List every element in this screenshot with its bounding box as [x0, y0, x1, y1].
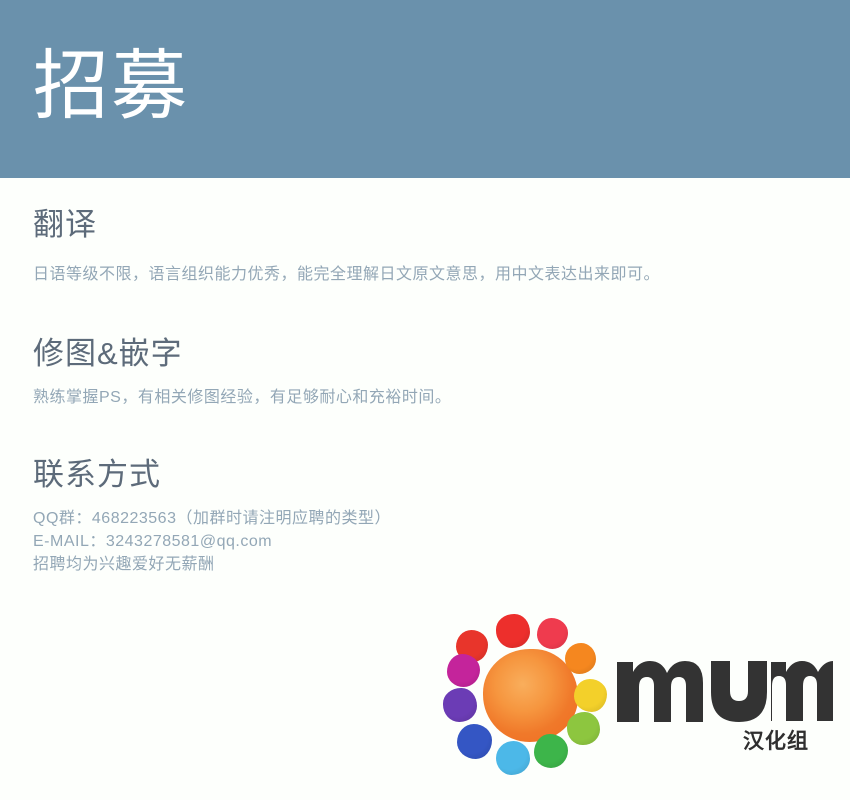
logo-dot-magenta: [447, 654, 480, 687]
logo-dot-red-top: [496, 614, 530, 648]
contact-line-email: E-MAIL：3243278581@qq.com: [33, 530, 391, 553]
section-body-translate: 日语等级不限，语言组织能力优秀，能完全理解日文原文意思，用中文表达出来即可。: [33, 263, 660, 287]
contact-line-qq: QQ群：468223563（加群时请注明应聘的类型）: [33, 507, 391, 530]
logo-center-blob-icon: [483, 649, 578, 742]
logo-block: 汉化组: [443, 608, 843, 786]
section-body-retouch: 熟练掌握PS，有相关修图经验，有足够耐心和充裕时间。: [33, 386, 451, 410]
section-heading-retouch: 修图&嵌字: [33, 335, 451, 373]
logo-dot-green: [534, 734, 568, 768]
section-heading-translate: 翻译: [33, 206, 660, 244]
logo-dot-yellow-green: [567, 712, 600, 745]
logo-dot-light-blue: [496, 741, 530, 775]
logo-dot-orange-upper: [565, 643, 596, 674]
contact-lines: QQ群：468223563（加群时请注明应聘的类型） E-MAIL：324327…: [33, 507, 391, 576]
section-retouch: 修图&嵌字 熟练掌握PS，有相关修图经验，有足够耐心和充裕时间。: [33, 335, 451, 410]
section-contact: 联系方式 QQ群：468223563（加群时请注明应聘的类型） E-MAIL：3…: [33, 456, 391, 576]
logo-wordmark-mum: [615, 656, 833, 726]
page-title: 招募: [33, 44, 189, 130]
section-translate: 翻译 日语等级不限，语言组织能力优秀，能完全理解日文原文意思，用中文表达出来即可…: [33, 206, 660, 287]
header-banner: 招募: [0, 0, 850, 178]
logo-subtitle: 汉化组: [743, 730, 809, 754]
logo-dot-yellow: [574, 679, 607, 712]
logo-dot-red-pink-top: [537, 618, 568, 649]
contact-line-note: 招聘均为兴趣爱好无薪酬: [33, 553, 391, 576]
logo-dot-purple: [443, 688, 477, 722]
logo-mark: [443, 608, 623, 778]
logo-dot-blue: [457, 724, 492, 759]
section-heading-contact: 联系方式: [33, 456, 391, 494]
